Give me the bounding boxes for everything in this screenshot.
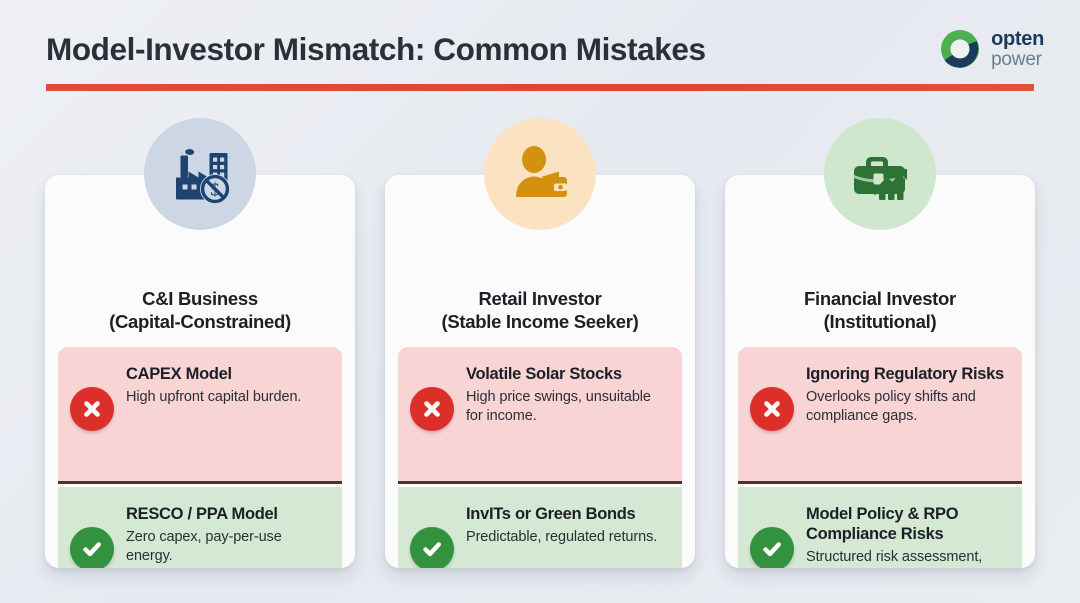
cross-circle-icon — [750, 387, 794, 431]
recommendation-description: Zero capex, pay-per-use energy. — [126, 528, 330, 567]
card-row: C&I Business (Capital-Constrained) CAPEX… — [0, 118, 1080, 588]
recommendation-text: Model Policy & RPO Compliance Risks Stru… — [806, 501, 1010, 568]
recommendation-panel: RESCO / PPA Model Zero capex, pay-per-us… — [58, 487, 342, 568]
brand-logo: opten power — [938, 24, 1044, 74]
recommendation-title: RESCO / PPA Model — [126, 505, 330, 525]
card-title-line2: (Stable Income Seeker) — [393, 310, 687, 333]
mistake-text: Volatile Solar Stocks High price swings,… — [466, 361, 670, 426]
mistake-panel: Volatile Solar Stocks High price swings,… — [398, 347, 682, 484]
factory-no-money-icon: $ — [144, 118, 256, 230]
mistake-description: High upfront capital burden. — [126, 388, 330, 407]
mistake-description: Overlooks policy shifts and compliance g… — [806, 388, 1010, 427]
card-title-line1: Retail Investor — [479, 288, 602, 309]
investor-wallet-icon — [484, 118, 596, 230]
check-circle-icon — [410, 527, 454, 568]
logo-wordmark: opten power — [991, 29, 1044, 69]
card-title-line2: (Capital-Constrained) — [53, 310, 347, 333]
cross-circle-icon — [70, 387, 114, 431]
page-header: Model-Investor Mismatch: Common Mistakes… — [0, 0, 1080, 100]
mistake-panel: Ignoring Regulatory Risks Overlooks poli… — [738, 347, 1022, 484]
recommendation-panel: Model Policy & RPO Compliance Risks Stru… — [738, 487, 1022, 568]
recommendation-text: RESCO / PPA Model Zero capex, pay-per-us… — [126, 501, 330, 566]
card-title: Financial Investor (Institutional) — [733, 287, 1027, 334]
recommendation-text: InvITs or Green Bonds Predictable, regul… — [466, 501, 670, 547]
mistake-text: CAPEX Model High upfront capital burden. — [126, 361, 330, 407]
mistake-title: CAPEX Model — [126, 365, 330, 385]
persona-card-retail-investor[interactable]: Retail Investor (Stable Income Seeker) V… — [385, 118, 695, 578]
check-circle-icon — [70, 527, 114, 568]
logo-word-top: opten — [991, 29, 1044, 49]
mistake-description: High price swings, unsuitable for income… — [466, 388, 670, 427]
check-circle-icon — [750, 527, 794, 568]
mistake-title: Volatile Solar Stocks — [466, 365, 670, 385]
card-body: C&I Business (Capital-Constrained) CAPEX… — [45, 175, 355, 568]
card-title: C&I Business (Capital-Constrained) — [53, 287, 347, 334]
persona-card-ci-business[interactable]: C&I Business (Capital-Constrained) CAPEX… — [45, 118, 355, 578]
card-body: Retail Investor (Stable Income Seeker) V… — [385, 175, 695, 568]
page-title: Model-Investor Mismatch: Common Mistakes — [46, 31, 706, 68]
logo-word-bottom: power — [991, 50, 1044, 69]
recommendation-description: Predictable, regulated returns. — [466, 528, 670, 547]
mistake-title: Ignoring Regulatory Risks — [806, 365, 1010, 385]
mistake-panel: CAPEX Model High upfront capital burden. — [58, 347, 342, 484]
card-body: Financial Investor (Institutional) Ignor… — [725, 175, 1035, 568]
briefcase-growth-chart-icon — [824, 118, 936, 230]
card-title-line1: C&I Business — [142, 288, 258, 309]
mistake-text: Ignoring Regulatory Risks Overlooks poli… — [806, 361, 1010, 426]
persona-card-financial-investor[interactable]: Financial Investor (Institutional) Ignor… — [725, 118, 1035, 578]
opten-swirl-icon — [938, 27, 982, 71]
recommendation-title: Model Policy & RPO Compliance Risks — [806, 505, 1010, 545]
card-title-line1: Financial Investor — [804, 288, 956, 309]
cross-circle-icon — [410, 387, 454, 431]
title-underline-rule — [46, 84, 1034, 91]
card-title-line2: (Institutional) — [733, 310, 1027, 333]
recommendation-description: Structured risk assessment, regulatory-a… — [806, 548, 1010, 568]
card-title: Retail Investor (Stable Income Seeker) — [393, 287, 687, 334]
recommendation-panel: InvITs or Green Bonds Predictable, regul… — [398, 487, 682, 568]
recommendation-title: InvITs or Green Bonds — [466, 505, 670, 525]
